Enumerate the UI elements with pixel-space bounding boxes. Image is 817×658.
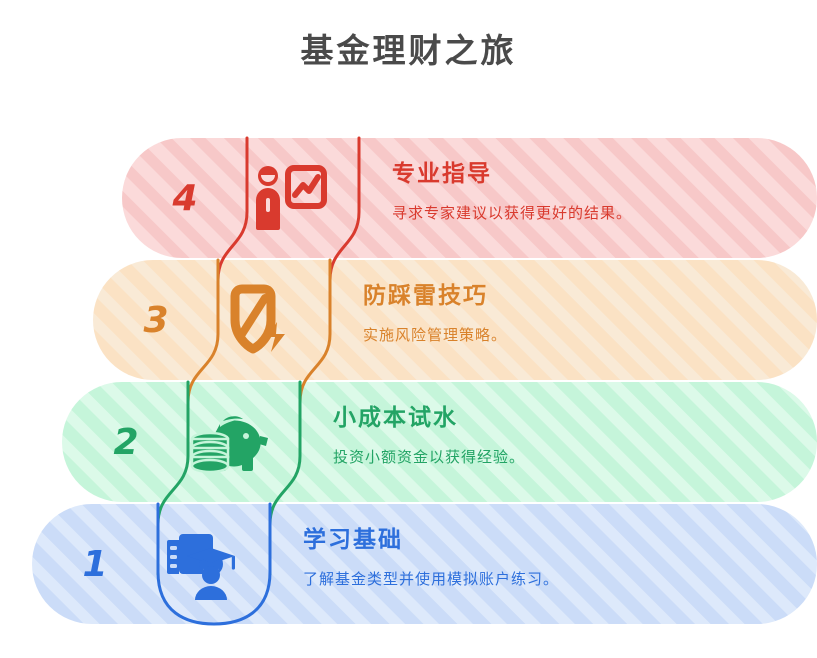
step-title-4: 专业指导 [392,160,812,189]
page-title: 基金理财之旅 [0,24,817,72]
step-text-4: 专业指导 寻求专家建议以获得更好的结果。 [392,160,812,224]
step-description-2: 投资小额资金以获得经验。 [333,449,753,469]
shield-bolt-icon [216,277,302,363]
step-title-3: 防踩雷技巧 [363,282,783,311]
piggy-bank-coins-icon [186,399,272,485]
step-text-3: 防踩雷技巧 实施风险管理策略。 [363,282,783,346]
step-text-2: 小成本试水 投资小额资金以获得经验。 [333,404,753,468]
infographic-canvas: 基金理财之旅 [0,0,817,658]
step-description-4: 寻求专家建议以获得更好的结果。 [392,205,812,225]
presenter-chart-icon [245,155,331,241]
step-description-1: 了解基金类型并使用模拟账户练习。 [303,571,723,591]
step-title-1: 学习基础 [303,526,723,555]
step-number-4: 4 [155,181,215,217]
graduate-document-icon [156,521,242,607]
step-title-2: 小成本试水 [333,404,753,433]
step-number-3: 3 [126,303,186,339]
step-number-1: 1 [65,547,125,583]
step-text-1: 学习基础 了解基金类型并使用模拟账户练习。 [303,526,723,590]
step-description-3: 实施风险管理策略。 [363,327,783,347]
step-number-2: 2 [96,425,156,461]
